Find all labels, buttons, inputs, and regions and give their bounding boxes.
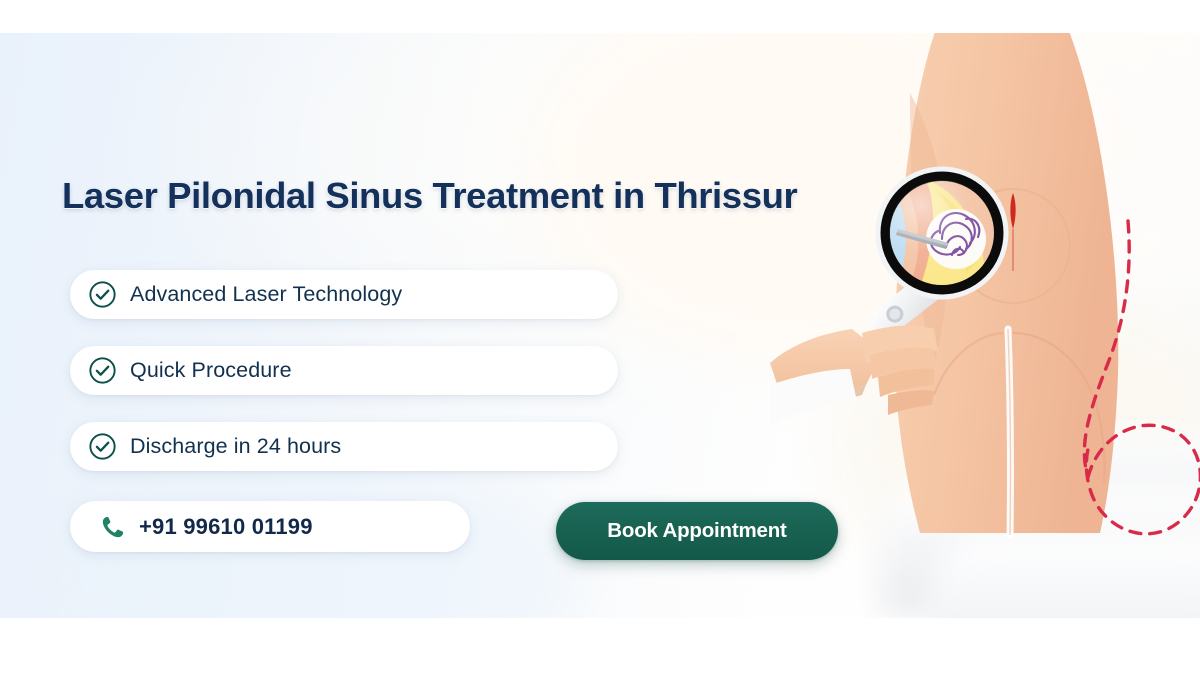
page-title: Laser Pilonidal Sinus Treatment in Thris… xyxy=(62,173,797,219)
feature-label: Advanced Laser Technology xyxy=(130,282,402,307)
hair-follicle-cyst-cross-section xyxy=(931,213,979,255)
book-appointment-button[interactable]: Book Appointment xyxy=(556,502,838,560)
hand-holding-magnifier xyxy=(770,258,961,425)
phone-number-text: +91 99610 01199 xyxy=(139,514,313,540)
magnifying-glass xyxy=(878,169,1006,297)
background-clinic-furniture xyxy=(930,533,1200,618)
buttocks-anatomy-figure xyxy=(895,33,1118,535)
phone-number-link[interactable]: +91 99610 01199 xyxy=(70,501,470,552)
red-dashed-pointer-curve xyxy=(1084,221,1200,534)
background-clinic-furniture xyxy=(880,485,1200,615)
page-root: Laser Pilonidal Sinus Treatment in Thris… xyxy=(0,0,1200,675)
red-sinus-lesion-mark xyxy=(1010,193,1015,229)
background-blur-shape xyxy=(830,293,1200,593)
feature-item-quick-procedure[interactable]: Quick Procedure xyxy=(70,346,618,395)
feature-item-advanced-laser-technology[interactable]: Advanced Laser Technology xyxy=(70,270,618,319)
check-circle-icon xyxy=(88,356,117,385)
feature-label: Quick Procedure xyxy=(130,358,292,383)
hero-banner: Laser Pilonidal Sinus Treatment in Thris… xyxy=(0,33,1200,618)
feature-item-discharge-in-24-hours[interactable]: Discharge in 24 hours xyxy=(70,422,618,471)
check-circle-icon xyxy=(88,432,117,461)
book-appointment-label: Book Appointment xyxy=(607,519,786,543)
feature-label: Discharge in 24 hours xyxy=(130,434,341,459)
background-clinic-furniture xyxy=(1000,433,1200,543)
check-circle-icon xyxy=(88,280,117,309)
feature-list: Advanced Laser Technology Quick Procedur… xyxy=(70,270,630,498)
phone-icon xyxy=(100,514,126,540)
